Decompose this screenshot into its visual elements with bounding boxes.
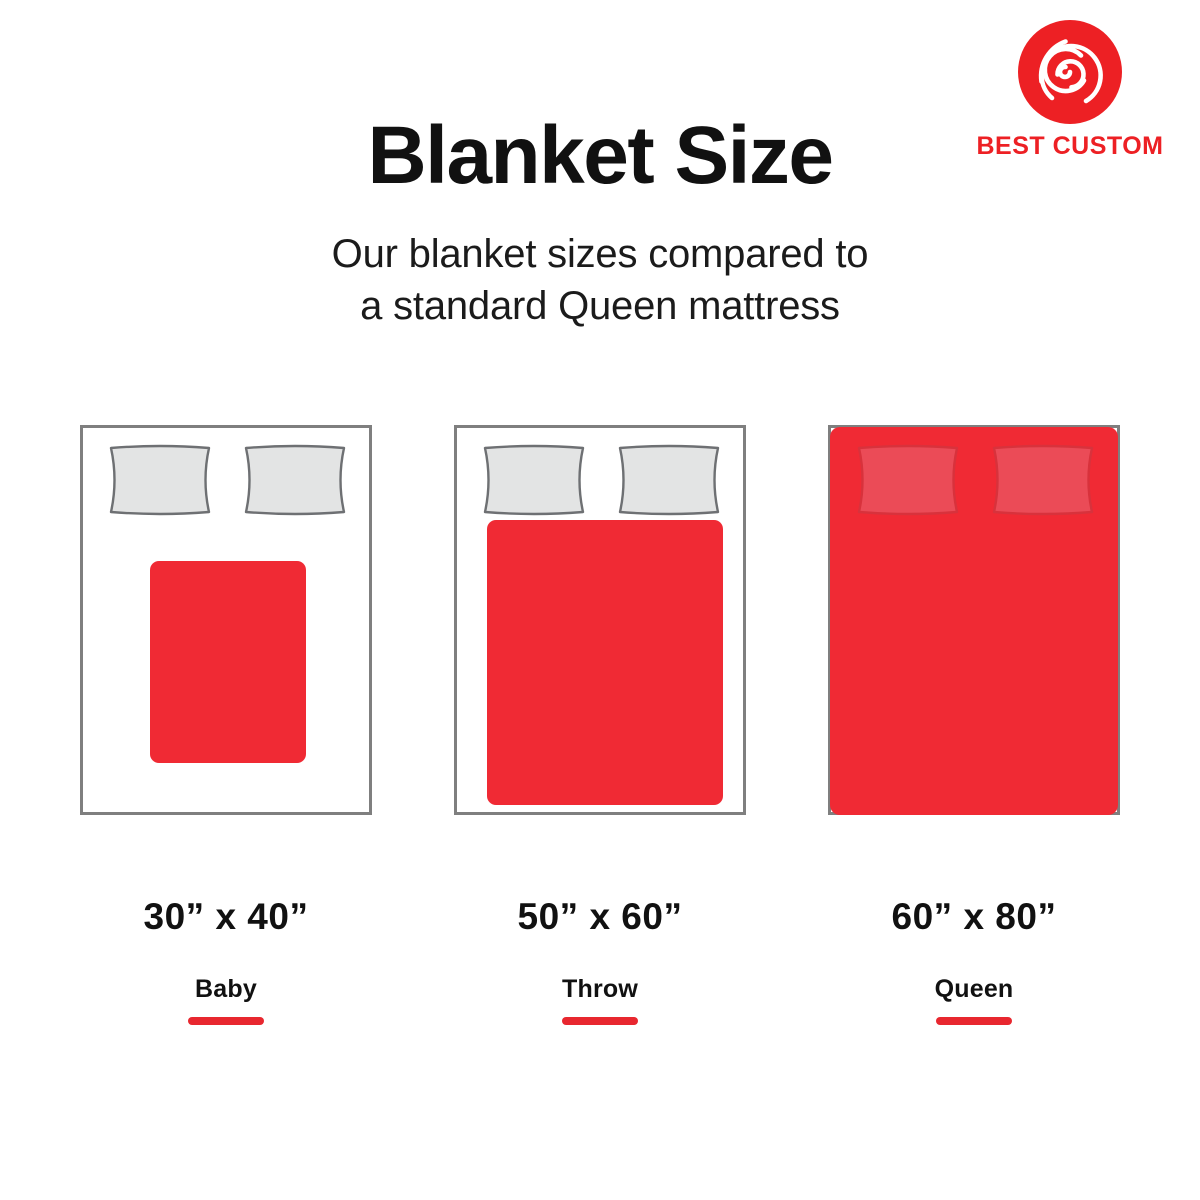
pillow-left-icon — [479, 444, 589, 516]
caption-throw: 50” x 60” Throw — [454, 895, 746, 1025]
bed-comparison-row — [0, 425, 1200, 820]
blanket-swatch-throw — [487, 520, 723, 805]
bed-diagram-queen — [828, 425, 1120, 815]
pillow-left-icon — [105, 444, 215, 516]
caption-size-baby: 30” x 40” — [80, 895, 372, 939]
pillow-right-icon — [614, 444, 724, 516]
caption-underline-queen — [936, 1017, 1012, 1025]
bed-diagram-baby — [80, 425, 372, 815]
page-subtitle: Our blanket sizes compared to a standard… — [0, 228, 1200, 332]
caption-name-baby: Baby — [80, 974, 372, 1004]
pillow-right-icon — [240, 444, 350, 516]
caption-queen: 60” x 80” Queen — [828, 895, 1120, 1025]
caption-size-throw: 50” x 60” — [454, 895, 746, 939]
caption-name-throw: Throw — [454, 974, 746, 1004]
page-subtitle-line-2: a standard Queen mattress — [0, 280, 1200, 332]
caption-name-queen: Queen — [828, 974, 1120, 1004]
pillow-left-icon — [853, 444, 963, 516]
page-subtitle-line-1: Our blanket sizes compared to — [0, 228, 1200, 280]
caption-baby: 30” x 40” Baby — [80, 895, 372, 1025]
page-title: Blanket Size — [0, 108, 1200, 204]
blanket-swatch-baby — [150, 561, 306, 763]
blanket-size-infographic: BEST CUSTOM Blanket Size Our blanket siz… — [0, 0, 1200, 1200]
caption-underline-throw — [562, 1017, 638, 1025]
caption-size-queen: 60” x 80” — [828, 895, 1120, 939]
caption-underline-baby — [188, 1017, 264, 1025]
bed-diagram-throw — [454, 425, 746, 815]
pillow-right-icon — [988, 444, 1098, 516]
caption-row: 30” x 40” Baby 50” x 60” Throw 60” x 80”… — [0, 895, 1200, 1055]
